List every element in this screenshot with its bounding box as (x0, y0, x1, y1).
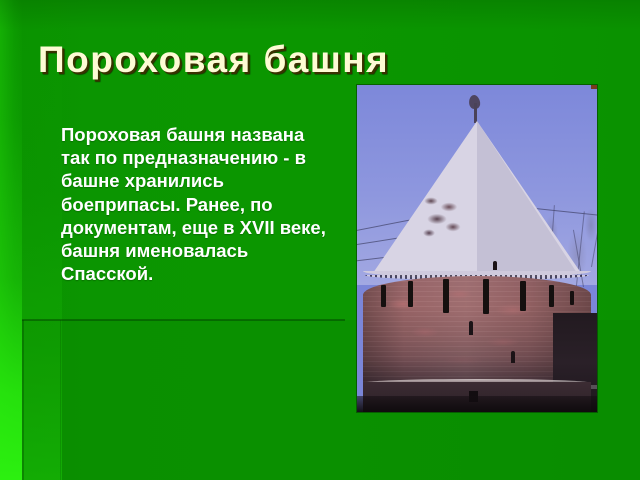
background-vertical-seam (22, 320, 24, 480)
photo-loophole-window (493, 261, 497, 270)
photo-tree-branch (591, 202, 597, 267)
photo-roof-finial (474, 103, 477, 123)
photo-loophole-window (511, 351, 515, 363)
photo-roof-shading (477, 121, 577, 273)
background-horizontal-seam (22, 319, 345, 321)
photo-machicolation-slot (520, 281, 526, 311)
background-vertical-seam-secondary (60, 320, 61, 480)
photo-machicolation-slot (549, 285, 554, 307)
presentation-slide: Пороховая башня Пороховая башня названа … (0, 0, 640, 480)
photo-machicolation-slot (443, 279, 449, 313)
photo-machicolation-slot (570, 291, 574, 305)
slide-title: Пороховая башня (38, 41, 618, 78)
photo-loophole-window (469, 321, 473, 335)
photo-machicolation-slot (381, 285, 386, 307)
photo-machicolation-slot (408, 281, 413, 307)
photo-corner-marker (591, 85, 597, 89)
tower-photo-content (357, 85, 597, 412)
photo-roof-bare-patch (419, 195, 471, 243)
tower-photo (357, 85, 597, 412)
photo-ground-shadow (357, 396, 597, 412)
slide-body-text: Пороховая башня названа так по предназна… (61, 123, 329, 285)
background-left-accent-stripe (0, 0, 22, 480)
background-top-shade (0, 0, 640, 30)
photo-machicolation-slot (483, 279, 489, 314)
